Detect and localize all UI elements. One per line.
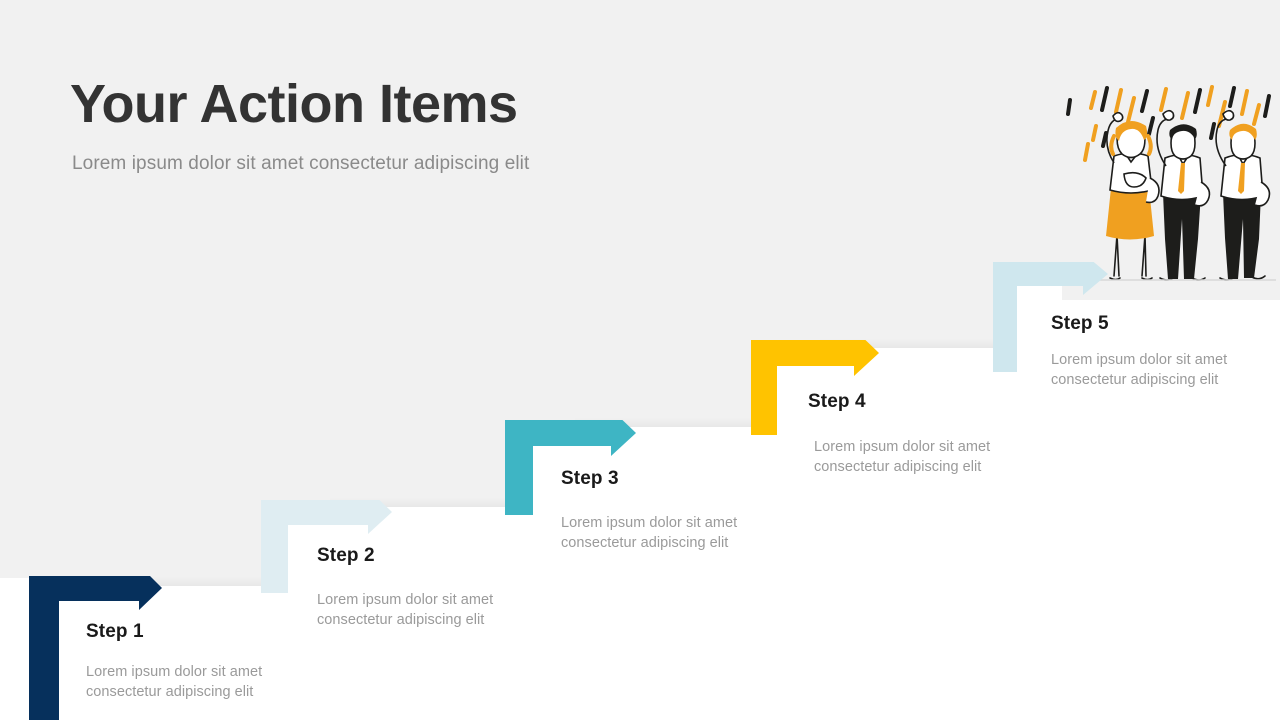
step-2-description: Lorem ipsum dolor sit amet consectetur a… xyxy=(317,590,522,630)
step-4-description: Lorem ipsum dolor sit amet consectetur a… xyxy=(814,437,1019,477)
step-3-title: Step 3 xyxy=(561,468,619,490)
step-4-title: Step 4 xyxy=(808,391,866,413)
step-4-arrow xyxy=(751,340,879,435)
page-subtitle: Lorem ipsum dolor sit amet consectetur a… xyxy=(72,153,529,175)
page-title: Your Action Items xyxy=(70,76,518,133)
step-1-description: Lorem ipsum dolor sit amet consectetur a… xyxy=(86,662,291,702)
step-3-description: Lorem ipsum dolor sit amet consectetur a… xyxy=(561,513,766,553)
step-2-title: Step 2 xyxy=(317,545,375,567)
slide-canvas: Your Action Items Lorem ipsum dolor sit … xyxy=(0,0,1280,720)
step-1-title: Step 1 xyxy=(86,621,144,643)
step-5-title: Step 5 xyxy=(1051,313,1109,335)
step-5-description: Lorem ipsum dolor sit amet consectetur a… xyxy=(1051,350,1256,390)
